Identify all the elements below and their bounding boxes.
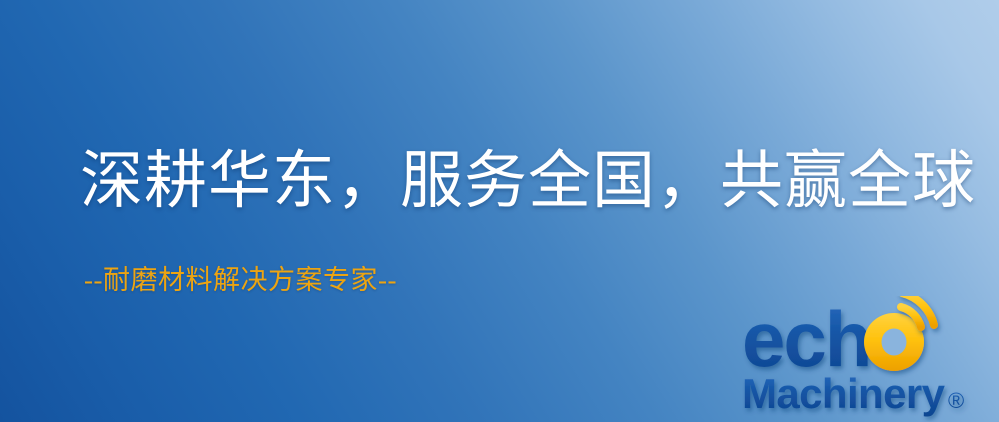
- banner-subtitle: --耐磨材料解决方案专家--: [84, 266, 397, 296]
- logo-subtext-machinery-icon: Machinery ®: [742, 370, 964, 417]
- promo-banner: 深耕华东，服务全国，共赢全球 --耐磨材料解决方案专家--: [0, 0, 999, 422]
- svg-text:Machinery: Machinery: [742, 370, 946, 417]
- echo-machinery-logo: ech Machinery ®: [742, 296, 999, 422]
- svg-text:®: ®: [948, 388, 964, 413]
- banner-headline: 深耕华东，服务全国，共赢全球: [80, 148, 976, 214]
